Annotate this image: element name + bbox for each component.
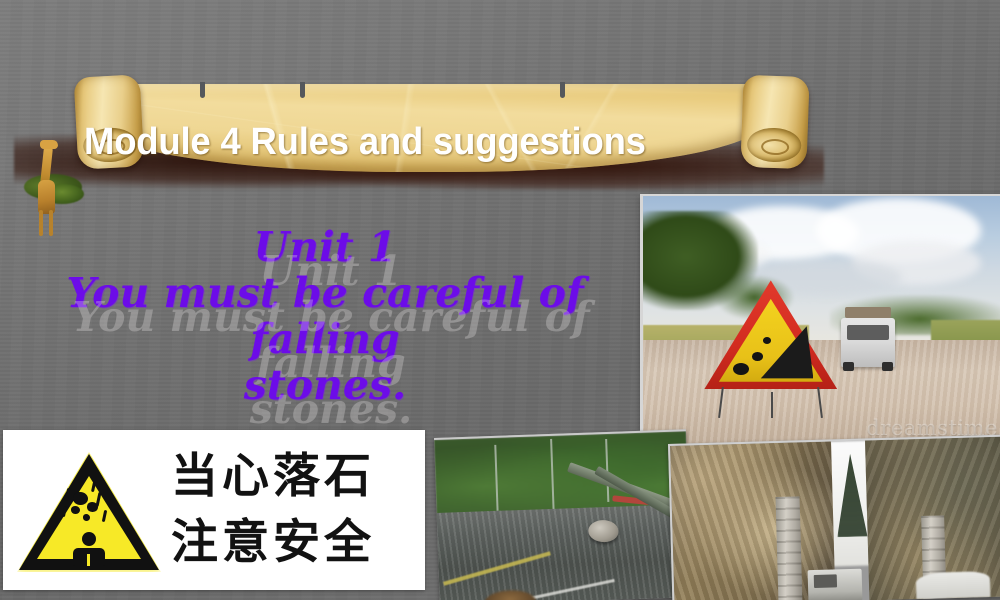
vehicle-roof-rack — [845, 307, 890, 318]
falling-rock — [73, 492, 88, 505]
scroll-notch — [560, 82, 565, 98]
giraffe-head — [40, 140, 58, 149]
subtitle-line-end: stones. stones. — [20, 362, 630, 408]
scroll-roll-right — [740, 75, 809, 169]
sign-leg — [771, 392, 773, 418]
sign-rock — [752, 352, 763, 361]
person-body — [73, 548, 105, 566]
wet-road-surface — [437, 504, 692, 600]
photo-rocky-canyon — [668, 435, 1000, 600]
concrete-pillar — [776, 497, 802, 600]
warning-triangle-icon — [13, 442, 165, 578]
photo-wet-road-boulder — [434, 429, 692, 600]
photo-road-warning-sign: dreamstime — [640, 194, 1000, 444]
scroll-notch — [200, 82, 205, 98]
scroll-notch — [300, 82, 305, 98]
subtitle-text-main: You must be careful of falling — [66, 269, 583, 363]
warning-sign-text: 当心落石 注意安全 — [165, 444, 425, 576]
person-pictogram — [73, 532, 105, 566]
falling-rock — [87, 502, 98, 512]
falling-rock — [83, 514, 90, 521]
warning-sign-line-2: 注意安全 — [171, 510, 421, 576]
falling-rock — [71, 506, 80, 514]
falling-rocks-warning-sign-panel: 当心落石 注意安全 — [3, 430, 425, 590]
scroll-curl — [747, 127, 802, 163]
subtitle-line-main: You must be careful of falling You must … — [20, 270, 630, 362]
subtitle-text-unit: Unit 1 — [254, 223, 397, 271]
vehicle-shape — [841, 318, 895, 368]
warning-sign-line-1: 当心落石 — [171, 444, 421, 510]
subtitle-line-unit: Unit 1 Unit 1 — [20, 224, 630, 270]
sign-rock — [763, 337, 771, 344]
snow-patch — [916, 571, 991, 599]
vehicle-window — [847, 325, 888, 340]
vehicle-wheel — [882, 362, 893, 371]
falling-rocks-sign-icon — [704, 280, 837, 389]
truck-shape — [808, 569, 863, 600]
slide-title: Module 4 Rules and suggestions — [84, 121, 718, 163]
slide-subtitle-block: Unit 1 Unit 1 You must be careful of fal… — [20, 224, 630, 408]
subtitle-text-end: stones. — [244, 361, 407, 409]
vehicle-wheel — [843, 362, 854, 371]
giraffe-body — [38, 180, 55, 214]
person-head — [82, 532, 96, 546]
presentation-slide: Module 4 Rules and suggestions Unit 1 Un… — [0, 0, 1000, 600]
